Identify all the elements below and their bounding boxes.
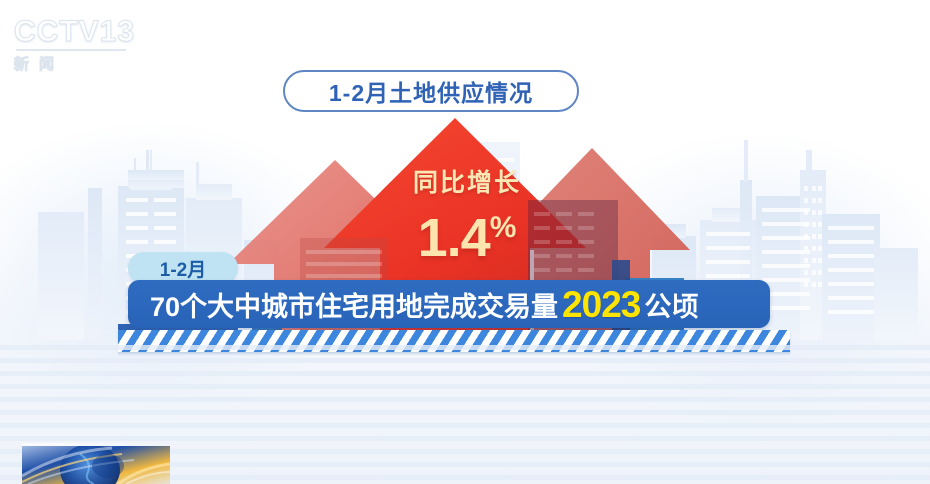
statistic-description: 70个大中城市住宅用地完成交易量 — [150, 285, 558, 324]
broadcast-infographic-frame: CCTV13 新闻 1-2月土地供应情况 同比增长 1.4% 1-2月 70个大… — [0, 0, 930, 484]
logo-cctv-text: CCTV — [14, 15, 100, 48]
logo-divider — [16, 49, 126, 51]
statistic-value: 2023 — [562, 286, 640, 323]
statistic-banner: 70个大中城市住宅用地完成交易量 2023 公顷 — [128, 280, 770, 328]
statistic-unit: 公顷 — [644, 285, 698, 324]
logo-subtitle: 新闻 — [14, 53, 174, 74]
logo-wordmark: CCTV13 — [14, 16, 174, 48]
globe-icon — [22, 446, 170, 484]
page-title-label: 1-2月土地供应情况 — [329, 74, 533, 108]
page-title: 1-2月土地供应情况 — [283, 70, 579, 112]
logo-channel-number: 13 — [100, 15, 135, 48]
month-range-label: 1-2月 — [160, 255, 206, 282]
lower-third-banner — [22, 446, 170, 484]
cctv-13-logo: CCTV13 新闻 — [14, 16, 174, 72]
